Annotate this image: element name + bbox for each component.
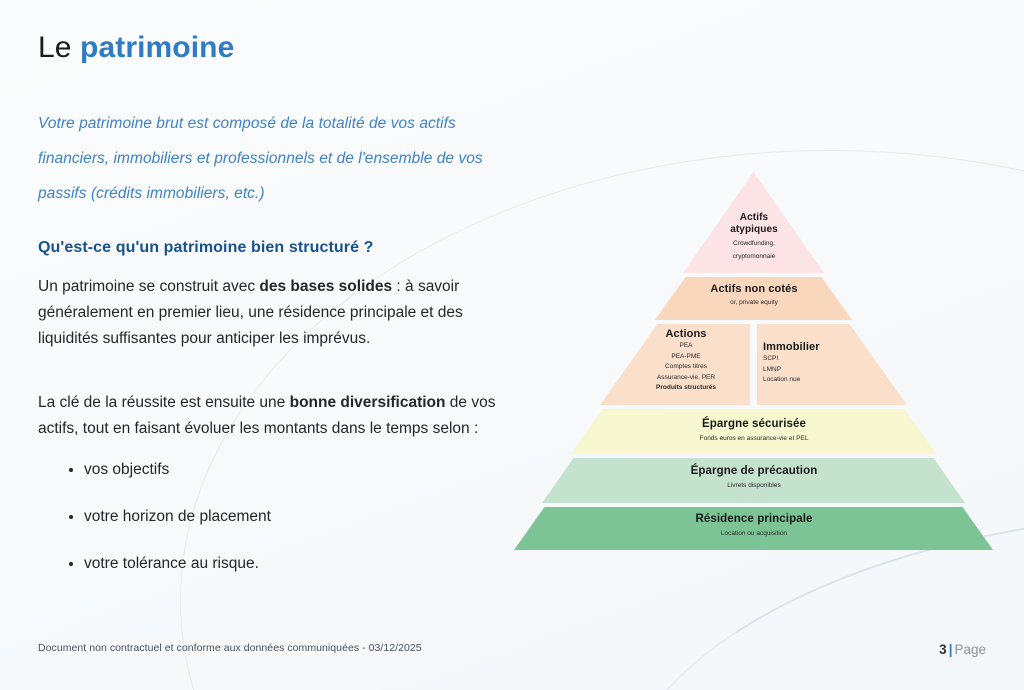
intro-paragraph: Votre patrimoine brut est composé de la … — [38, 106, 518, 211]
pyramid-tier-3-right-shape — [757, 324, 907, 405]
body-paragraph-1-emphasis: des bases solides — [259, 278, 392, 295]
list-item: vos objectifs — [84, 458, 518, 481]
footer-disclaimer: Document non contractuel et conforme aux… — [38, 642, 422, 654]
pyramid-tier-3-left-shape — [600, 324, 750, 405]
pyramid-tier-2-shape — [655, 277, 852, 320]
pyramid-tier-5-shape — [542, 458, 965, 503]
body-paragraph-2-emphasis: bonne diversification — [290, 394, 446, 411]
page-title-accent: patrimoine — [80, 31, 234, 64]
criteria-list: vos objectifs votre horizon de placement… — [38, 458, 518, 575]
body-paragraph-1-part-a: Un patrimoine se construit avec — [38, 278, 259, 295]
list-item: votre tolérance au risque. — [84, 552, 518, 575]
content-column: Le patrimoine Votre patrimoine brut est … — [38, 28, 518, 599]
slide-page: Le patrimoine Votre patrimoine brut est … — [0, 0, 1024, 690]
section-heading: Qu'est-ce qu'un patrimoine bien structur… — [38, 239, 518, 257]
page-number: 3|Page — [939, 642, 986, 657]
pyramid-tier-4-shape — [571, 409, 936, 454]
page-title: Le patrimoine — [38, 28, 518, 68]
page-number-value: 3 — [939, 642, 947, 657]
pyramid-tier-6-shape — [514, 507, 993, 550]
pyramid-shapes — [489, 172, 1018, 551]
wealth-pyramid-diagram: Actifs atypiques Crowdfunding, cryptomon… — [489, 172, 1018, 551]
body-paragraph-1: Un patrimoine se construit avec des base… — [38, 274, 518, 352]
page-title-plain: Le — [38, 31, 80, 64]
page-number-label: Page — [954, 642, 986, 657]
pyramid-tier-1-shape — [683, 172, 824, 273]
list-item: votre horizon de placement — [84, 505, 518, 528]
body-paragraph-2-part-a: La clé de la réussite est ensuite une — [38, 394, 290, 411]
body-paragraph-2: La clé de la réussite est ensuite une bo… — [38, 390, 518, 442]
